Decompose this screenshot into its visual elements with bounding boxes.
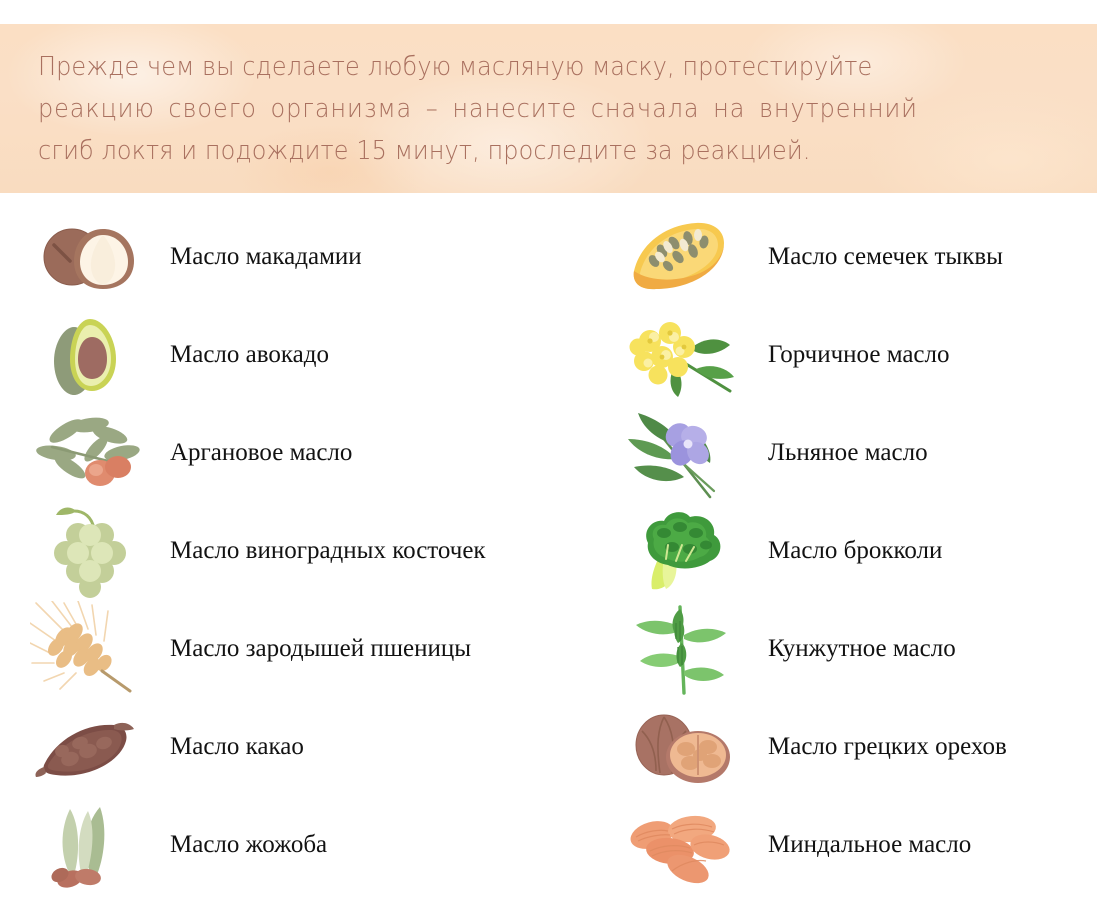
list-item-label: Масло виноградных косточек — [170, 537, 486, 565]
avocado-icon — [30, 307, 150, 403]
list-item-label: Масло зародышей пшеницы — [170, 635, 471, 663]
almonds-icon — [618, 797, 758, 893]
banner-line-2: реакцию своего организма – нанесите снач… — [38, 88, 998, 130]
argan-branch-icon — [30, 405, 150, 501]
list-item-label: Горчичное масло — [768, 341, 950, 369]
list-item[interactable]: Аргановое масло — [30, 404, 590, 502]
list-item-label: Кунжутное масло — [768, 635, 956, 663]
list-item[interactable]: Масло авокадо — [30, 306, 590, 404]
oils-column-left: Масло макадамии Масло авокадо — [0, 193, 600, 908]
list-item[interactable]: Льняное масло — [618, 404, 1088, 502]
list-item[interactable]: Масло жожоба — [30, 796, 590, 894]
sesame-plant-icon — [618, 601, 758, 697]
list-item-label: Масло брокколи — [768, 537, 942, 565]
list-item[interactable]: Масло брокколи — [618, 502, 1088, 600]
grapes-icon — [30, 503, 150, 599]
list-item-label: Масло макадамии — [170, 243, 362, 271]
list-item[interactable]: Кунжутное масло — [618, 600, 1088, 698]
list-item[interactable]: Масло зародышей пшеницы — [30, 600, 590, 698]
list-item[interactable]: Масло какао — [30, 698, 590, 796]
list-item-label: Масло грецких орехов — [768, 733, 1007, 761]
flax-flower-icon — [618, 405, 758, 501]
banner-line-1: Прежде чем вы сделаете любую масляную ма… — [38, 46, 998, 88]
list-item-label: Аргановое масло — [170, 439, 352, 467]
list-item-label: Масло какао — [170, 733, 304, 761]
list-item[interactable]: Миндальное масло — [618, 796, 1088, 894]
banner-line-3: сгиб локтя и подождите 15 минут, прослед… — [38, 130, 998, 172]
mustard-flower-icon — [618, 307, 758, 403]
list-item[interactable]: Масло виноградных косточек — [30, 502, 590, 600]
cocoa-pod-icon — [30, 699, 150, 795]
oils-column-right: Масло семечек тыквы — [600, 193, 1097, 908]
list-item[interactable]: Масло макадамии — [30, 208, 590, 306]
list-item[interactable]: Масло грецких орехов — [618, 698, 1088, 796]
list-item[interactable]: Масло семечек тыквы — [618, 208, 1088, 306]
oils-list: Масло макадамии Масло авокадо — [0, 193, 1097, 908]
pumpkin-slice-icon — [618, 209, 758, 305]
list-item-label: Масло авокадо — [170, 341, 329, 369]
broccoli-icon — [618, 503, 758, 599]
jojoba-plant-icon — [30, 797, 150, 893]
macadamia-nut-icon — [30, 209, 150, 305]
list-item[interactable]: Горчичное масло — [618, 306, 1088, 404]
wheat-ear-icon — [30, 601, 150, 697]
walnut-icon — [618, 699, 758, 795]
list-item-label: Масло жожоба — [170, 831, 327, 859]
list-item-label: Масло семечек тыквы — [768, 243, 1003, 271]
warning-banner: Прежде чем вы сделаете любую масляную ма… — [0, 24, 1097, 193]
list-item-label: Льняное масло — [768, 439, 928, 467]
list-item-label: Миндальное масло — [768, 831, 971, 859]
